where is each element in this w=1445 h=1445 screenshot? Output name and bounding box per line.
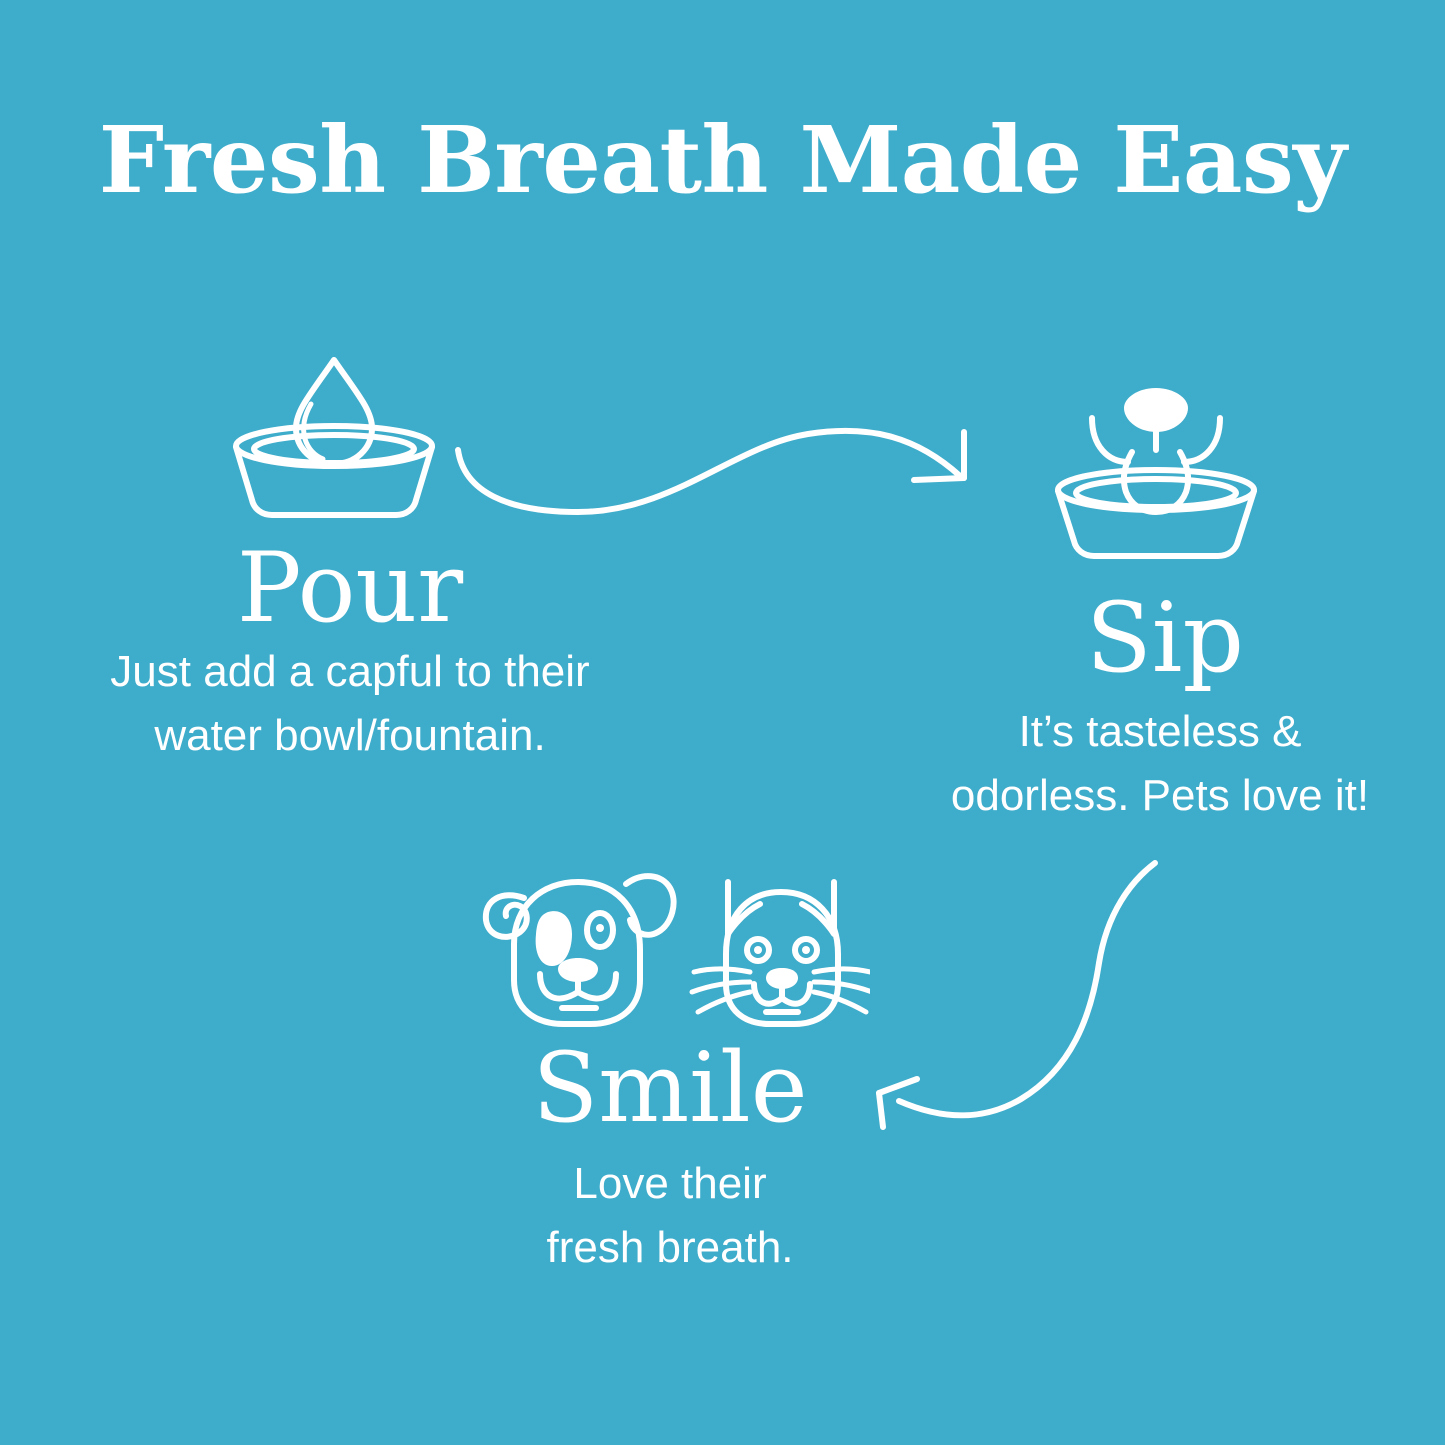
infographic-canvas: Fresh Breath Made Easy Pour Just add a c… [0, 0, 1445, 1445]
step-heading-sip: Sip [945, 590, 1385, 686]
step-body-sip-line1: It’s tasteless & [880, 700, 1440, 764]
water-bowl-with-drop-icon [206, 352, 462, 524]
dog-and-cat-faces-icon [478, 862, 870, 1038]
curved-arrow-right-icon [448, 412, 1018, 542]
step-heading-smile: Smile [420, 1040, 920, 1136]
step-body-sip-line2: odorless. Pets love it! [880, 764, 1440, 828]
step-body-pour-line1: Just add a capful to their [20, 640, 680, 704]
step-body-pour-line2: water bowl/fountain. [20, 704, 680, 768]
step-heading-pour: Pour [30, 540, 670, 636]
step-body-sip: It’s tasteless & odorless. Pets love it! [880, 700, 1440, 828]
cat-face-icon [692, 882, 870, 1024]
dog-drinking-from-bowl-icon [1028, 380, 1284, 560]
step-body-pour: Just add a capful to their water bowl/fo… [20, 640, 680, 768]
step-body-smile: Love their fresh breath. [440, 1152, 900, 1280]
step-body-smile-line1: Love their [440, 1152, 900, 1216]
dog-face-icon [486, 876, 674, 1024]
step-body-smile-line2: fresh breath. [440, 1216, 900, 1280]
page-title: Fresh Breath Made Easy [0, 112, 1445, 209]
